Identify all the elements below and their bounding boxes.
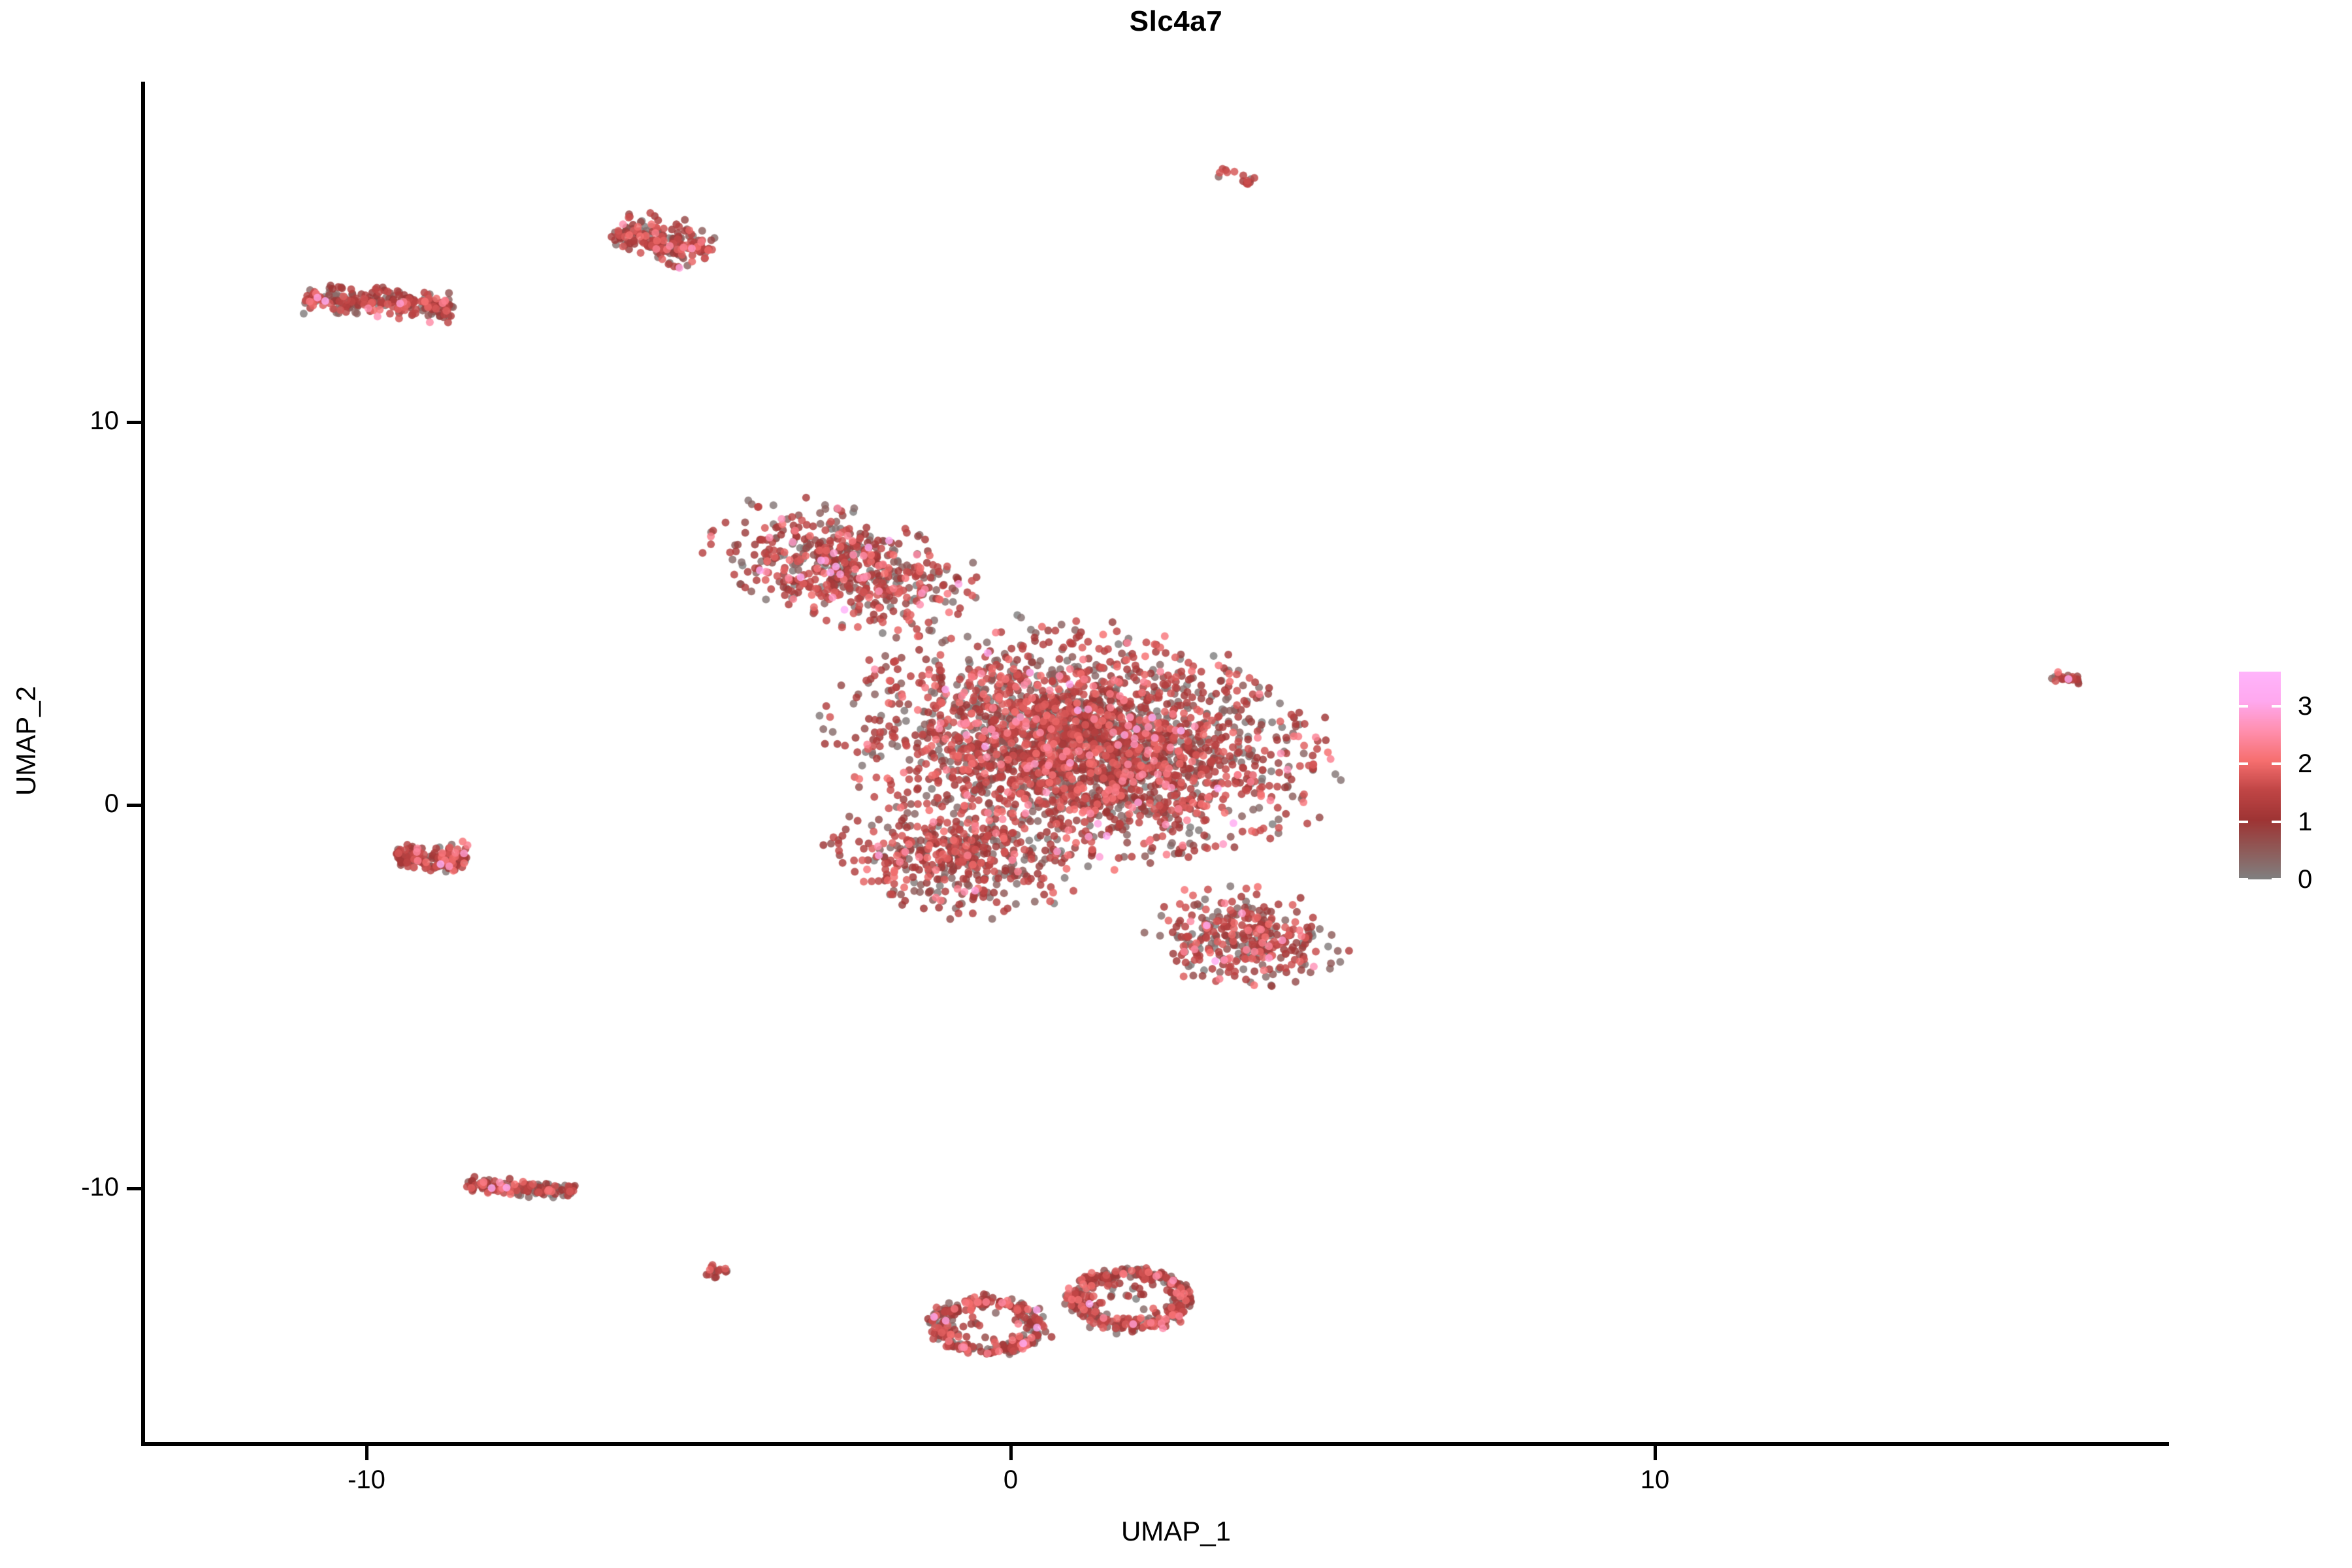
colorbar-tick-mark	[2272, 878, 2281, 881]
colorbar-tick-mark	[2239, 821, 2248, 823]
y-tick-mark	[127, 1187, 141, 1190]
y-axis-label: UMAP_2	[10, 414, 42, 1068]
color-legend	[2239, 672, 2281, 879]
colorbar-gradient	[2239, 672, 2281, 879]
colorbar-tick-mark	[2272, 762, 2281, 765]
umap-feature-plot: Slc4a7 -10010 100-10 UMAP_1 UMAP_2 3210	[0, 0, 2352, 1568]
colorbar-tick-label: 3	[2298, 693, 2312, 719]
x-axis-line	[141, 1442, 2169, 1446]
x-tick-label: 0	[932, 1465, 1089, 1495]
colorbar-tick-label: 2	[2298, 751, 2312, 777]
x-tick-mark	[365, 1446, 368, 1460]
y-tick-label: -10	[0, 1173, 119, 1202]
plot-panel	[144, 82, 2169, 1445]
colorbar-tick-mark	[2272, 705, 2281, 708]
x-tick-label: -10	[288, 1465, 445, 1495]
x-tick-label: 10	[1576, 1465, 1733, 1495]
page-title: Slc4a7	[0, 5, 2352, 38]
y-tick-mark	[127, 804, 141, 807]
colorbar-tick-mark	[2239, 762, 2248, 765]
x-tick-mark	[1009, 1446, 1013, 1460]
colorbar-tick-mark	[2239, 878, 2248, 881]
colorbar-tick-label: 0	[2298, 866, 2312, 892]
x-axis-label: UMAP_1	[0, 1516, 2352, 1547]
y-axis-line	[141, 82, 145, 1446]
colorbar-tick-mark	[2272, 821, 2281, 823]
x-tick-mark	[1654, 1446, 1657, 1460]
y-tick-mark	[127, 421, 141, 424]
colorbar-tick-label: 1	[2298, 809, 2312, 835]
scatter-points-layer	[144, 82, 2169, 1445]
colorbar-tick-mark	[2239, 705, 2248, 708]
